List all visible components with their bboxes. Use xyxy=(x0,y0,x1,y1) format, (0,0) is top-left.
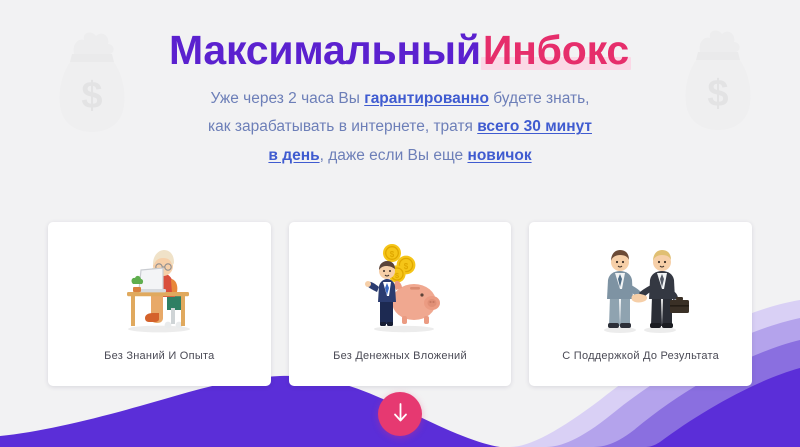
feature-card: С Поддержкой До Результата xyxy=(529,222,752,386)
hero-subtitle-line: Уже через 2 часа Вы гарантированно будет… xyxy=(0,85,800,113)
page-title-accent: Инбокс xyxy=(481,28,631,72)
page-title: МаксимальныйИнбокс xyxy=(0,28,800,72)
hero-subtitle: Уже через 2 часа Вы гарантированно будет… xyxy=(0,85,800,170)
businessmen-handshake-icon xyxy=(586,236,696,336)
hero-subtitle-line: как зарабатывать в интернете, тратя всег… xyxy=(0,113,800,141)
hero-subtitle-text: , даже если Вы еще xyxy=(320,147,468,164)
svg-text:$: $ xyxy=(390,250,395,259)
feature-card: $ $ $ xyxy=(289,222,512,386)
hero-subtitle-emphasis: новичок xyxy=(467,147,531,164)
page-title-primary: Максимальный xyxy=(169,27,481,73)
hero-subtitle-emphasis: гарантированно xyxy=(364,90,489,107)
feature-card-list: Без Знаний И Опыта $ $ $ xyxy=(48,222,752,386)
hero-subtitle-text: будете знать, xyxy=(489,90,590,107)
feature-card-label: Без Знаний И Опыта xyxy=(104,350,214,362)
feature-card: Без Знаний И Опыта xyxy=(48,222,271,386)
hero-subtitle-text: как зарабатывать в интернете, тратя xyxy=(208,118,477,135)
arrow-down-icon xyxy=(391,402,410,426)
hero-subtitle-emphasis: в день xyxy=(268,147,319,164)
elderly-woman-at-laptop-icon xyxy=(111,236,207,336)
hero-subtitle-text: Уже через 2 часа Вы xyxy=(211,90,365,107)
feature-card-label: С Поддержкой До Результата xyxy=(562,350,719,362)
scroll-down-button[interactable] xyxy=(378,392,422,436)
man-with-piggy-bank-icon: $ $ $ xyxy=(352,236,448,336)
hero-subtitle-line: в день, даже если Вы еще новичок xyxy=(0,142,800,170)
feature-card-label: Без Денежных Вложений xyxy=(333,350,467,362)
svg-text:$: $ xyxy=(404,262,409,271)
hero-subtitle-emphasis: всего 30 минут xyxy=(477,118,592,135)
hero-header: МаксимальныйИнбокс Уже через 2 часа Вы г… xyxy=(0,28,800,170)
